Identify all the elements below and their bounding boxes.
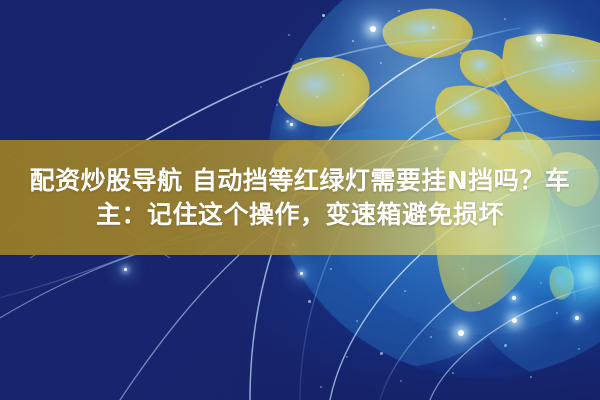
article-thumbnail-banner: 配资炒股导航 自动挡等红绿灯需要挂N挡吗？车 主：记住这个操作，变速箱避免损坏: [0, 0, 600, 400]
headline-line-2: 主：记住这个操作，变速箱避免损坏: [96, 200, 504, 230]
headline-line-1: 配资炒股导航 自动挡等红绿灯需要挂N挡吗？车: [30, 166, 571, 196]
headline-text-block: 配资炒股导航 自动挡等红绿灯需要挂N挡吗？车 主：记住这个操作，变速箱避免损坏: [0, 140, 600, 255]
